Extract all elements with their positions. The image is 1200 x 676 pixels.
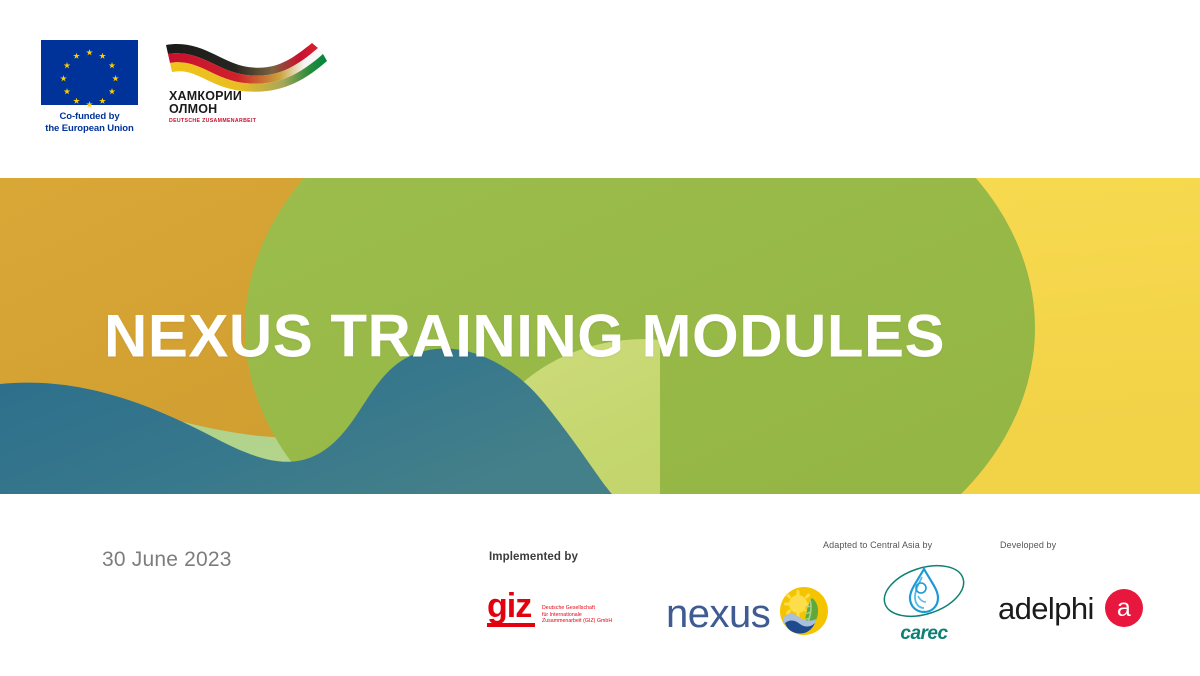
coop-caption-line-3: DEUTSCHE ZUSAMMENARBEIT <box>169 119 256 124</box>
german-tajik-ribbon-icon <box>160 33 330 93</box>
carec-logo: carec <box>878 563 970 645</box>
title-slide: Co-funded by the European Union <box>0 0 1200 676</box>
coop-caption-line-2: ОЛМОН <box>169 103 256 116</box>
adapted-by-label: Adapted to Central Asia by <box>823 540 932 550</box>
nexus-globe-icon <box>779 586 829 641</box>
giz-logo: giz Deutsche Gesellschaft für Internatio… <box>487 592 612 627</box>
footer <box>0 494 1200 676</box>
eu-flag-icon <box>41 40 138 105</box>
carec-water-drop-icon <box>878 563 970 630</box>
german-cooperation-caption: ХАМКОРИИ ОЛМОН DEUTSCHE ZUSAMMENARBEIT <box>169 90 256 124</box>
adelphi-wordmark: adelphi <box>998 593 1094 624</box>
eu-caption-line-1: Co-funded by <box>59 111 119 122</box>
developed-by-label: Developed by <box>1000 540 1056 550</box>
eu-caption-line-2: the European Union <box>45 123 133 134</box>
adelphi-logo: adelphi a <box>998 589 1143 627</box>
page-title: NEXUS TRAINING MODULES <box>104 302 945 371</box>
donor-logo-bar: Co-funded by the European Union <box>0 0 1200 178</box>
giz-tagline-line-2: für Internationale <box>542 612 582 618</box>
eu-caption: Co-funded by the European Union <box>41 111 138 134</box>
eu-funding-logo: Co-funded by the European Union <box>41 40 138 134</box>
adelphi-mark-icon: a <box>1105 589 1143 627</box>
german-cooperation-logo: ХАМКОРИИ ОЛМОН DEUTSCHE ZUSAMMENARBEIT <box>160 33 330 93</box>
nexus-wordmark: nexus <box>666 594 770 634</box>
giz-wordmark: giz <box>487 592 535 620</box>
giz-tagline-line-3: Zusammenarbeit (GIZ) GmbH <box>542 618 612 624</box>
slide-date: 30 June 2023 <box>102 548 232 572</box>
implemented-by-label: Implemented by <box>489 551 578 563</box>
giz-tagline-line-1: Deutsche Gesellschaft <box>542 605 595 611</box>
giz-tagline: Deutsche Gesellschaft für Internationale… <box>542 605 612 625</box>
hero-banner: NEXUS TRAINING MODULES <box>0 178 1200 494</box>
nexus-logo: nexus <box>666 586 829 641</box>
